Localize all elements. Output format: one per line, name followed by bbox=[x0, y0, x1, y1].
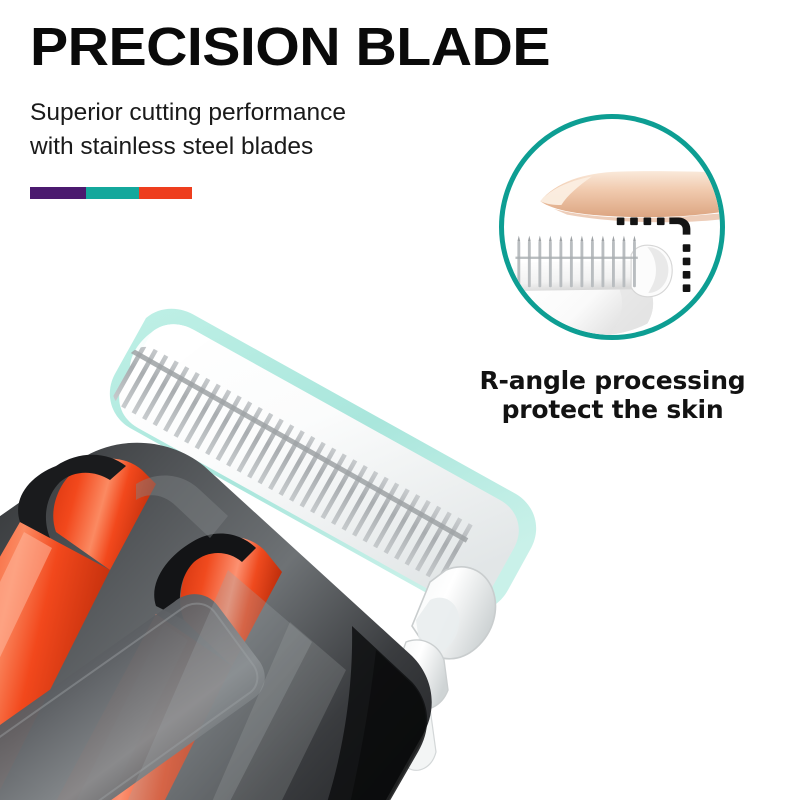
accent-segment-teal bbox=[86, 187, 139, 199]
accent-segment-red bbox=[139, 187, 192, 199]
subtitle: Superior cutting performance with stainl… bbox=[30, 96, 450, 164]
product-feature-banner: PRECISION BLADE Superior cutting perform… bbox=[0, 0, 800, 800]
accent-rule bbox=[30, 187, 192, 199]
product-photo-trimmer bbox=[0, 270, 580, 800]
finger-illustration bbox=[540, 171, 720, 222]
accent-segment-purple bbox=[30, 187, 86, 199]
page-title: PRECISION BLADE bbox=[30, 18, 666, 76]
subtitle-line-2: with stainless steel blades bbox=[30, 130, 450, 164]
subtitle-line-1: Superior cutting performance bbox=[30, 96, 450, 130]
